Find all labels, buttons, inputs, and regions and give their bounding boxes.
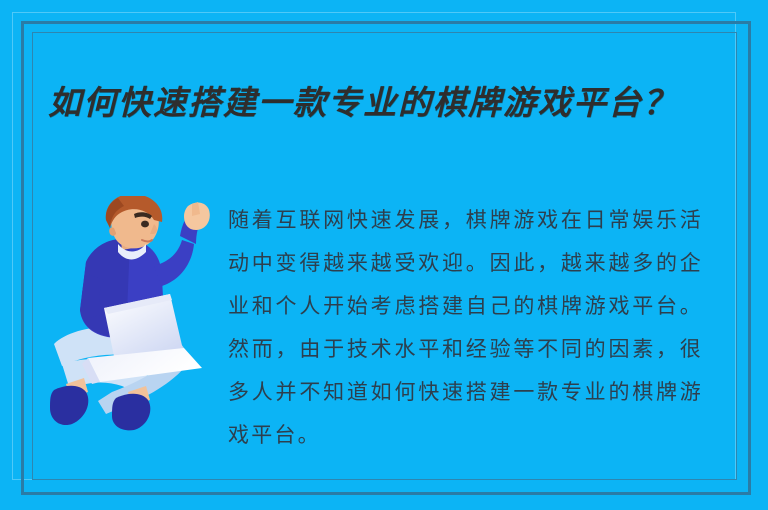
article-body: 随着互联网快速发展，棋牌游戏在日常娱乐活动中变得越来越受欢迎。因此，越来越多的企… xyxy=(228,199,703,489)
person-with-laptop-illustration xyxy=(42,196,212,431)
page-title: 如何快速搭建一款专业的棋牌游戏平台？ xyxy=(48,80,734,126)
poster-canvas: 如何快速搭建一款专业的棋牌游戏平台？ xyxy=(0,0,768,510)
